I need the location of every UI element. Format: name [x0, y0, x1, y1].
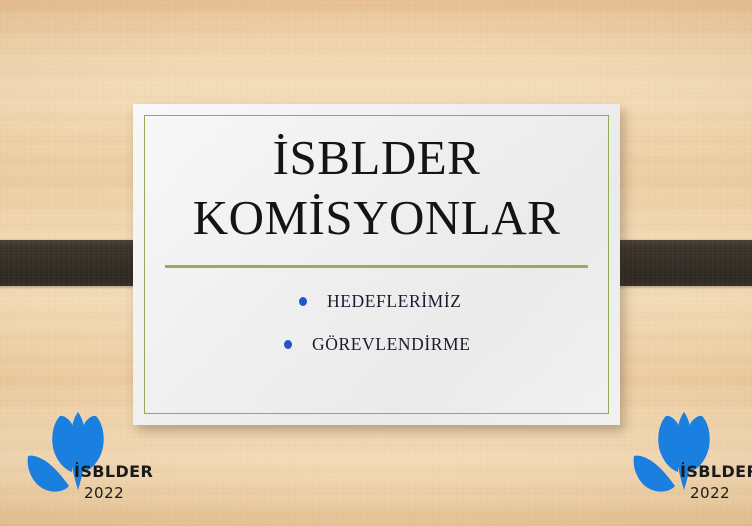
bullet-dot-icon: [284, 340, 292, 349]
bullet-dot-icon: [299, 297, 307, 306]
list-item-label: HEDEFLERİMİZ: [327, 291, 462, 312]
slide-title: İSBLDER KOMİSYONLAR: [133, 128, 620, 248]
logo-year-text: 2022: [690, 484, 730, 502]
white-content-card: İSBLDER KOMİSYONLAR HEDEFLERİMİZ GÖREVLE…: [133, 104, 620, 425]
title-line-1: İSBLDER: [133, 128, 620, 188]
list-item[interactable]: HEDEFLERİMİZ: [133, 280, 620, 323]
green-divider: [165, 265, 588, 268]
bullet-list: HEDEFLERİMİZ GÖREVLENDİRME: [133, 280, 620, 366]
title-line-2: KOMİSYONLAR: [133, 188, 620, 248]
list-item[interactable]: GÖREVLENDİRME: [133, 323, 620, 366]
logo-year-text: 2022: [84, 484, 124, 502]
logo-bottom-left: İSBLDER 2022: [22, 410, 140, 516]
logo-bottom-right: İSBLDER 2022: [628, 410, 746, 516]
logo-name-text: İSBLDER: [74, 462, 153, 481]
list-item-label: GÖREVLENDİRME: [312, 334, 470, 355]
presentation-slide: İSBLDER KOMİSYONLAR HEDEFLERİMİZ GÖREVLE…: [0, 0, 752, 526]
logo-name-text: İSBLDER: [680, 462, 752, 481]
